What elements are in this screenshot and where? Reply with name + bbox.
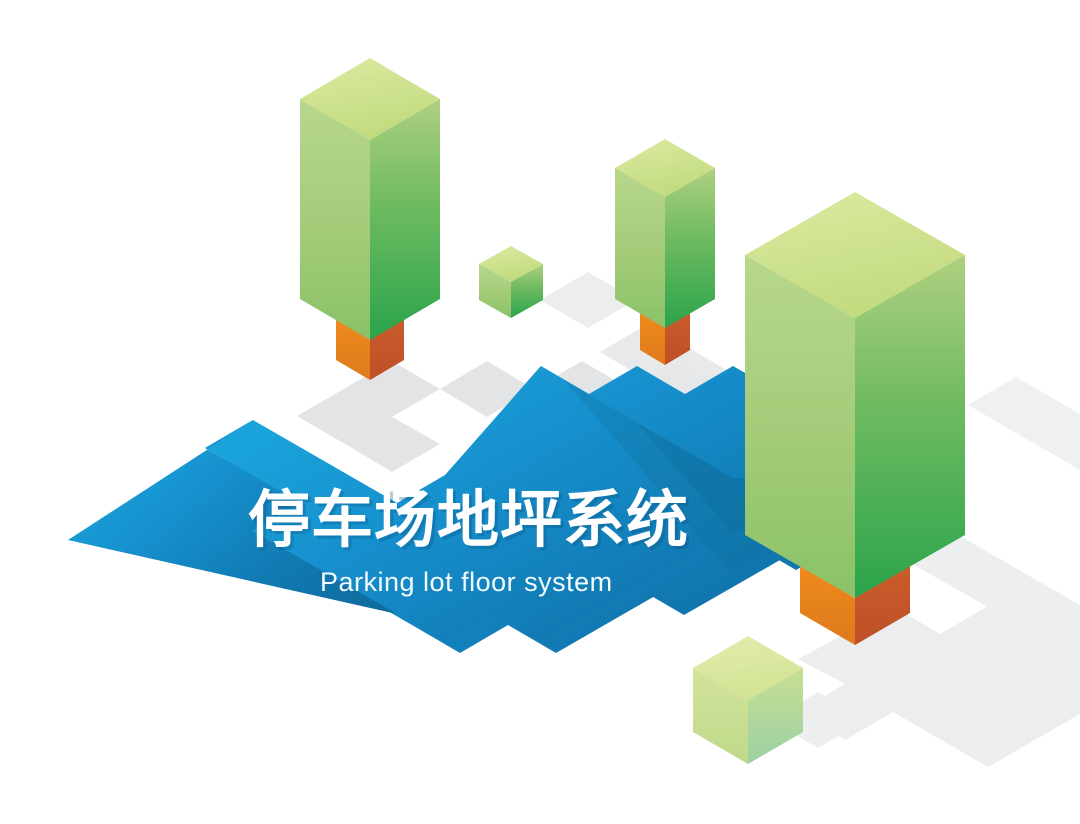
tall-block-left-left [300,99,370,340]
tall-block-right [745,192,965,645]
tall-block-left-right [370,99,440,340]
pale-cube-bottom [693,636,803,764]
isometric-illustration [0,0,1080,824]
small-cube-center [479,246,543,318]
mid-block-center [615,139,715,365]
tall-block-left [300,58,440,380]
poster-canvas: 停车场地坪系统 Parking lot floor system [0,0,1080,824]
